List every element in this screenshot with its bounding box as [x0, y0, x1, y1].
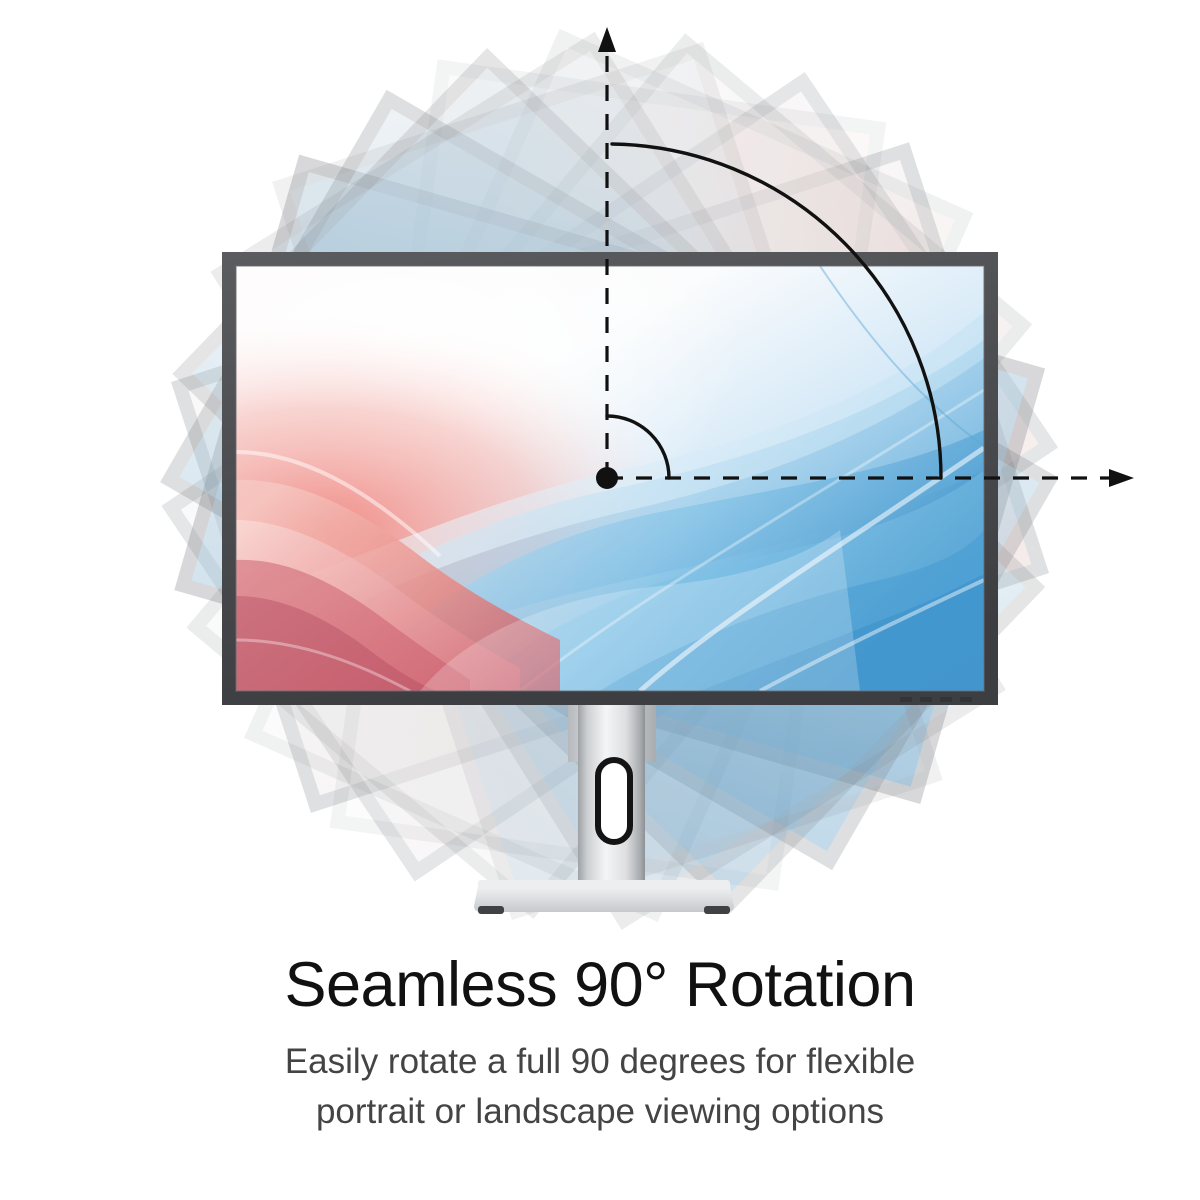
pivot-point-dot — [596, 467, 618, 489]
subtitle-line-1: Easily rotate a full 90 degrees for flex… — [0, 1021, 1200, 1088]
right-arrow-head — [1109, 469, 1134, 487]
up-arrow-head — [598, 27, 616, 52]
caption-block: Seamless 90° Rotation Easily rotate a fu… — [0, 950, 1200, 1138]
stand-base-top-edge — [478, 880, 730, 888]
cable-management-hole — [598, 760, 630, 842]
stand-foot-right — [704, 906, 730, 914]
stand-foot-left — [478, 906, 504, 914]
product-feature-graphic: Seamless 90° Rotation Easily rotate a fu… — [0, 0, 1200, 1200]
page-title: Seamless 90° Rotation — [0, 950, 1200, 1021]
subtitle-line-2: portrait or landscape viewing options — [0, 1087, 1200, 1138]
stand-base — [474, 886, 734, 912]
